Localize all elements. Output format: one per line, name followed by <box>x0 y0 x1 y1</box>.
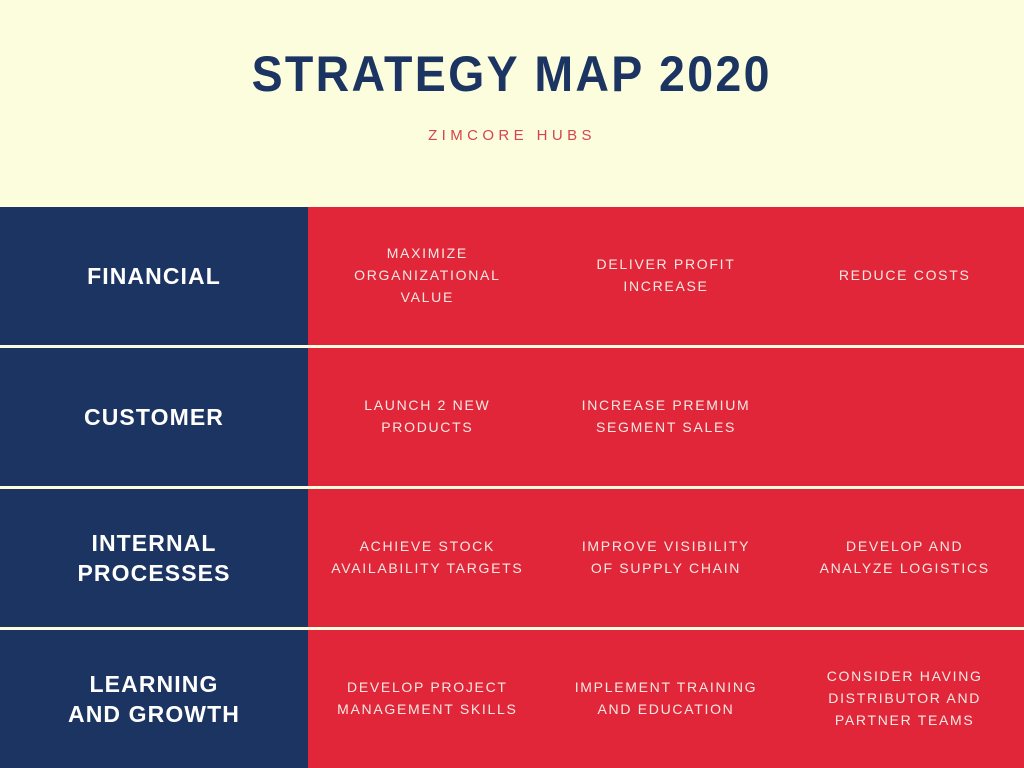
objective-cell[interactable]: IMPROVE VISIBILITY OF SUPPLY CHAIN <box>547 536 786 579</box>
objective-text: INCREASE PREMIUM SEGMENT SALES <box>582 395 751 438</box>
perspective-label-internal-processes: INTERNAL PROCESSES <box>77 528 230 589</box>
perspective-label-learning-and-growth: LEARNING AND GROWTH <box>68 669 240 730</box>
perspective-label-customer: CUSTOMER <box>84 402 224 432</box>
objective-text: CONSIDER HAVING DISTRIBUTOR AND PARTNER … <box>827 666 983 731</box>
perspective-cell-financial: FINANCIAL <box>0 207 308 345</box>
objective-cell[interactable]: DEVELOP PROJECT MANAGEMENT SKILLS <box>308 677 547 720</box>
objectives-learning-and-growth: DEVELOP PROJECT MANAGEMENT SKILLS IMPLEM… <box>308 630 1024 768</box>
objective-cell[interactable]: LAUNCH 2 NEW PRODUCTS <box>308 395 547 438</box>
perspective-label-financial: FINANCIAL <box>87 261 221 291</box>
objectives-financial: MAXIMIZE ORGANIZATIONAL VALUE DELIVER PR… <box>308 207 1024 345</box>
objective-cell[interactable]: INCREASE PREMIUM SEGMENT SALES <box>547 395 786 438</box>
objective-cell[interactable]: IMPLEMENT TRAINING AND EDUCATION <box>547 677 786 720</box>
organization-subtitle: ZIMCORE HUBS <box>428 127 596 144</box>
objective-text: MAXIMIZE ORGANIZATIONAL VALUE <box>354 243 500 308</box>
strategy-matrix: FINANCIAL MAXIMIZE ORGANIZATIONAL VALUE … <box>0 207 1024 768</box>
objective-cell[interactable]: ACHIEVE STOCK AVAILABILITY TARGETS <box>308 536 547 579</box>
objective-cell[interactable]: DEVELOP AND ANALYZE LOGISTICS <box>785 536 1024 579</box>
objective-text: DEVELOP AND ANALYZE LOGISTICS <box>820 536 990 579</box>
objective-text: LAUNCH 2 NEW PRODUCTS <box>364 395 490 438</box>
objective-cell[interactable]: DELIVER PROFIT INCREASE <box>547 254 786 297</box>
poster-header: STRATEGY MAP 2020 ZIMCORE HUBS <box>0 0 1024 207</box>
strategy-map-poster: STRATEGY MAP 2020 ZIMCORE HUBS FINANCIAL… <box>0 0 1024 768</box>
matrix-row-internal-processes: INTERNAL PROCESSES ACHIEVE STOCK AVAILAB… <box>0 486 1024 627</box>
matrix-row-learning-and-growth: LEARNING AND GROWTH DEVELOP PROJECT MANA… <box>0 627 1024 768</box>
matrix-row-financial: FINANCIAL MAXIMIZE ORGANIZATIONAL VALUE … <box>0 207 1024 345</box>
objective-text: IMPROVE VISIBILITY OF SUPPLY CHAIN <box>582 536 750 579</box>
objective-text: DEVELOP PROJECT MANAGEMENT SKILLS <box>337 677 517 720</box>
objectives-internal-processes: ACHIEVE STOCK AVAILABILITY TARGETS IMPRO… <box>308 489 1024 627</box>
objectives-customer: LAUNCH 2 NEW PRODUCTS INCREASE PREMIUM S… <box>308 348 1024 486</box>
objective-cell[interactable]: CONSIDER HAVING DISTRIBUTOR AND PARTNER … <box>785 666 1024 731</box>
perspective-cell-learning-and-growth: LEARNING AND GROWTH <box>0 630 308 768</box>
objective-text: IMPLEMENT TRAINING AND EDUCATION <box>575 677 758 720</box>
objective-text: ACHIEVE STOCK AVAILABILITY TARGETS <box>331 536 523 579</box>
page-title: STRATEGY MAP 2020 <box>252 48 772 101</box>
matrix-row-customer: CUSTOMER LAUNCH 2 NEW PRODUCTS INCREASE … <box>0 345 1024 486</box>
perspective-cell-customer: CUSTOMER <box>0 348 308 486</box>
perspective-cell-internal-processes: INTERNAL PROCESSES <box>0 489 308 627</box>
objective-text: DELIVER PROFIT INCREASE <box>597 254 736 297</box>
objective-cell[interactable]: MAXIMIZE ORGANIZATIONAL VALUE <box>308 243 547 308</box>
objective-text: REDUCE COSTS <box>839 265 971 287</box>
objective-cell[interactable]: REDUCE COSTS <box>785 265 1024 287</box>
